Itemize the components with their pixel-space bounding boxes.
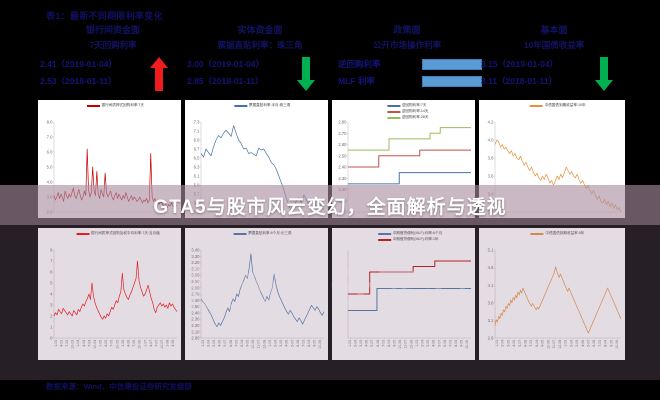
y-axis-tick: 2.70 xyxy=(191,292,200,297)
chart-legend: 票据直贴利率:6个月:长三角 xyxy=(233,231,292,236)
legend-label: 逆回购利率:14天 xyxy=(402,109,429,114)
table-column-interbank: 银行间资金面 7天回购利率 2.41（2019-01-04） 2.53（2018… xyxy=(38,24,188,96)
chart-canvas-chart-6: 3.403.303.203.103.002.902.802.702.602.50… xyxy=(185,228,328,360)
y-axis-tick: 4 xyxy=(50,292,53,297)
chart-canvas-chart-7: 1-032-043-054-065-076-087-038-049-0510-0… xyxy=(332,228,475,360)
y-axis-tick: 8.0 xyxy=(47,120,53,125)
x-axis-tick: 8-04 xyxy=(240,340,244,347)
x-axis-tick: 3-05 xyxy=(575,340,579,347)
x-axis-tick: 2-04 xyxy=(273,340,277,347)
x-axis-tick: 9-05 xyxy=(541,340,545,347)
legend-label: 中期借贷便利(MLF):利率:6个月 xyxy=(393,231,443,236)
x-axis-tick: 5-07 xyxy=(587,340,591,347)
y-axis-tick: 2.30 xyxy=(338,176,347,181)
legend-swatch xyxy=(378,239,391,241)
y-axis-tick: 4.1 xyxy=(488,283,494,288)
x-axis-tick: 4-06 xyxy=(512,340,516,347)
x-axis-tick: 2-04 xyxy=(420,340,424,347)
chart-grid: 8.07.06.05.04.03.02.0银行间质押式回购利率:7天 7.37.… xyxy=(38,100,653,360)
table-column-fundamentals: 基本面 10年国债收益率 3.15（2019-01-04） 3.11（2018-… xyxy=(479,24,629,96)
legend-label: 中债国债到期收益率:5年 xyxy=(545,231,584,236)
x-axis-tick: 1-04 xyxy=(76,340,80,347)
column-values: 2.41（2019-01-04） 2.53（2018-01-11） xyxy=(38,56,188,92)
legend-item: 中债国债到期收益率:10年 xyxy=(530,103,586,108)
y-axis-tick: 3.30 xyxy=(191,254,200,259)
y-axis-tick: 2.20 xyxy=(191,323,200,328)
table-title: 表1：最新不同期限利率变化 xyxy=(46,9,163,22)
x-axis-tick: 10-05 xyxy=(115,340,119,349)
y-axis-tick: 6.0 xyxy=(47,150,53,155)
x-axis-tick: 6-08 xyxy=(443,340,447,347)
y-axis-tick: 2 xyxy=(50,314,53,319)
x-axis-tick: 9-05 xyxy=(313,340,317,347)
y-axis-tick: 2.50 xyxy=(191,304,200,309)
y-axis-tick: 2.60 xyxy=(191,298,200,303)
chart-canvas-chart-1: 8.07.06.05.04.03.02.0 xyxy=(38,100,181,218)
y-axis-tick: 3.1 xyxy=(488,318,494,323)
chart-canvas-chart-8: 5.14.64.13.63.12.61-032-043-054-065-076-… xyxy=(479,228,625,360)
y-axis-tick: 3.2 xyxy=(488,210,494,215)
y-axis-tick: 2.0 xyxy=(47,210,53,215)
y-axis-tick: 5.3 xyxy=(194,210,200,215)
x-axis-tick: 10-06 xyxy=(318,340,322,349)
chart-canvas-chart-2: 7.37.16.96.76.56.36.15.95.75.55.3 xyxy=(185,100,328,218)
legend-label: 票据直贴利率:半月:珠三角 xyxy=(249,103,291,108)
series-line xyxy=(348,150,471,167)
y-axis-tick: 7.1 xyxy=(194,129,200,134)
x-axis-tick: 12-08 xyxy=(558,340,562,349)
x-axis-tick: 3-05 xyxy=(212,340,216,347)
legend-label: 中债国债到期收益率:10年 xyxy=(545,103,586,108)
x-axis-tick: 1-03 xyxy=(268,340,272,347)
x-axis-tick: 7-03 xyxy=(301,340,305,347)
x-axis-tick: 1-03 xyxy=(415,340,419,347)
x-axis-tick: 4-07 xyxy=(149,340,153,347)
column-subtitle: 7天回购利率 xyxy=(38,39,188,52)
x-axis-tick: 8-04 xyxy=(454,340,458,347)
x-axis-tick: 6-08 xyxy=(524,340,528,347)
x-axis-tick: 6-08 xyxy=(296,340,300,347)
y-axis-tick: 5.0 xyxy=(47,165,53,170)
y-axis-tick: 3 xyxy=(50,303,53,308)
y-axis-tick: 2.80 xyxy=(338,120,347,125)
legend-item: 中期借贷便利(MLF):利率:1年 xyxy=(378,237,443,242)
y-axis-tick: 6.3 xyxy=(194,165,200,170)
y-axis-tick: 4.2 xyxy=(488,120,494,125)
x-axis-tick: 8-04 xyxy=(604,340,608,347)
legend-label: 逆回购利率:7天 xyxy=(402,103,427,108)
x-axis-tick: 3-05 xyxy=(426,340,430,347)
legend-swatch xyxy=(378,233,391,235)
legend-item: 票据直贴利率:半月:珠三角 xyxy=(234,103,291,108)
y-axis-tick: 3.0 xyxy=(47,195,53,200)
x-axis-tick: 7-04 xyxy=(87,340,91,347)
table-column-realeconomy: 实体资金面 票据直贴利率：珠三角 3.00（2019-01-04） 2.85（2… xyxy=(185,24,335,96)
y-axis-tick: 2.40 xyxy=(191,310,200,315)
x-axis-tick: 5-07 xyxy=(290,340,294,347)
x-axis-tick: 11-07 xyxy=(404,340,408,349)
y-axis-tick: 7 xyxy=(50,259,53,264)
x-axis-tick: 10-04 xyxy=(93,340,97,349)
x-axis-tick: 10-03 xyxy=(71,340,75,349)
chart-legend: 逆回购利率:7天逆回购利率:14天逆回购利率:28天 xyxy=(387,103,429,120)
y-axis-tick: 2.10 xyxy=(191,329,200,334)
x-axis-tick: 1-03 xyxy=(564,340,568,347)
y-axis-tick: 0 xyxy=(50,336,53,341)
chart-7: 1-032-043-054-065-076-087-038-049-0510-0… xyxy=(332,228,475,360)
x-axis-tick: 7-03 xyxy=(65,340,69,347)
x-axis-tick: 9-05 xyxy=(246,340,250,347)
x-axis-tick: 2-04 xyxy=(569,340,573,347)
series-line xyxy=(348,289,471,311)
x-axis-tick: 6-08 xyxy=(376,340,380,347)
y-axis-tick: 4.0 xyxy=(488,138,494,143)
up-arrow-icon xyxy=(150,57,168,91)
legend-swatch xyxy=(387,105,400,107)
x-axis-tick: 10-06 xyxy=(465,340,469,349)
y-axis-tick: 6.7 xyxy=(194,147,200,152)
x-axis-tick: 2-04 xyxy=(206,340,210,347)
y-axis-tick: 5.9 xyxy=(194,183,200,188)
x-axis-tick: 8-04 xyxy=(535,340,539,347)
y-axis-tick: 2.50 xyxy=(338,153,347,158)
y-axis-tick: 8 xyxy=(50,248,53,253)
chart-legend: 银行间质押式回购利率:7天 xyxy=(86,103,144,108)
y-axis-tick: 2.6 xyxy=(488,336,494,341)
y-axis-tick: 3.8 xyxy=(488,156,494,161)
x-axis-tick: 4-06 xyxy=(432,340,436,347)
column-category: 实体资金面 xyxy=(185,24,335,37)
column-subtitle: 公开市场操作利率 xyxy=(332,39,482,52)
y-axis-tick: 6 xyxy=(50,270,53,275)
unchanged-bar-icon xyxy=(422,59,482,70)
x-axis-tick: 4-08 xyxy=(171,340,175,347)
x-axis-tick: 10-07 xyxy=(160,340,164,349)
y-axis-tick: 7.0 xyxy=(47,135,53,140)
series-line xyxy=(348,173,471,184)
x-axis-tick: 3-05 xyxy=(359,340,363,347)
legend-swatch xyxy=(234,105,247,107)
x-axis-tick: 1-03 xyxy=(54,340,58,347)
x-axis-tick: 3-05 xyxy=(279,340,283,347)
series-line xyxy=(54,149,177,208)
chart-canvas-chart-4: 4.24.03.83.63.43.2 xyxy=(479,100,625,218)
column-values: 3.15（2019-01-04） 3.11（2018-01-11） xyxy=(479,56,629,92)
legend-item: 中债国债到期收益率:5年 xyxy=(530,231,584,236)
chart-1: 8.07.06.05.04.03.02.0银行间质押式回购利率:7天 xyxy=(38,100,181,218)
chart-6: 3.403.303.203.103.002.902.802.702.602.50… xyxy=(185,228,328,360)
x-axis-tick: 4-03 xyxy=(59,340,63,347)
legend-item: 逆回购利率:28天 xyxy=(387,115,429,120)
legend-swatch xyxy=(387,111,400,113)
x-axis-tick: 10-06 xyxy=(398,340,402,349)
x-axis-tick: 11-07 xyxy=(257,340,261,349)
legend-label: 逆回购利率:28天 xyxy=(402,115,429,120)
x-axis-tick: 5-07 xyxy=(223,340,227,347)
x-axis-tick: 7-03 xyxy=(234,340,238,347)
y-axis-tick: 2.40 xyxy=(338,165,347,170)
x-axis-tick: 12-08 xyxy=(262,340,266,349)
legend-swatch xyxy=(387,117,400,119)
x-axis-tick: 4-06 xyxy=(365,340,369,347)
x-axis-tick: 4-06 xyxy=(581,340,585,347)
x-axis-tick: 7-03 xyxy=(448,340,452,347)
legend-item: 逆回购利率:14天 xyxy=(387,109,429,114)
x-axis-tick: 7-03 xyxy=(598,340,602,347)
y-axis-tick: 2.60 xyxy=(338,142,347,147)
rate-summary-table: 银行间资金面 7天回购利率 2.41（2019-01-04） 2.53（2018… xyxy=(38,24,653,96)
x-axis-tick: 7-03 xyxy=(529,340,533,347)
series-line xyxy=(201,126,324,212)
x-axis-tick: 7-05 xyxy=(110,340,114,347)
x-axis-tick: 11-07 xyxy=(552,340,556,349)
series-line xyxy=(348,261,471,294)
down-arrow-icon xyxy=(297,57,315,91)
y-axis-tick: 2.90 xyxy=(191,279,200,284)
y-axis-tick: 3.4 xyxy=(488,192,494,197)
x-axis-tick: 7-03 xyxy=(381,340,385,347)
y-axis-tick: 3.00 xyxy=(191,273,200,278)
x-axis-tick: 1-07 xyxy=(143,340,147,347)
chart-2: 7.37.16.96.76.56.36.15.95.75.55.3票据直贴利率:… xyxy=(185,100,328,218)
column-category: 基本面 xyxy=(479,24,629,37)
x-axis-tick: 2-04 xyxy=(353,340,357,347)
y-axis-tick: 2.00 xyxy=(191,336,200,341)
legend-swatch xyxy=(530,105,543,107)
legend-item: 票据直贴利率:6个月:长三角 xyxy=(233,231,292,236)
y-axis-tick: 3.6 xyxy=(488,174,494,179)
x-axis-tick: 5-07 xyxy=(437,340,441,347)
column-values: 3.00（2019-01-04） 2.85（2018-01-11） xyxy=(185,56,335,92)
x-axis-tick: 4-05 xyxy=(104,340,108,347)
chart-legend: 中债国债到期收益率:5年 xyxy=(530,231,584,236)
y-axis-tick: 3.6 xyxy=(488,300,494,305)
legend-swatch xyxy=(233,233,246,235)
y-axis-tick: 5 xyxy=(50,281,53,286)
chart-3: 2.802.702.602.502.402.302.202.102.00逆回购利… xyxy=(332,100,475,218)
x-axis-tick: 5-07 xyxy=(518,340,522,347)
y-axis-tick: 6.5 xyxy=(194,156,200,161)
legend-swatch xyxy=(530,233,543,235)
x-axis-tick: 4-06 xyxy=(126,340,130,347)
x-axis-tick: 9-05 xyxy=(393,340,397,347)
column-category: 银行间资金面 xyxy=(38,24,188,37)
x-axis-tick: 4-04 xyxy=(82,340,86,347)
y-axis-tick: 2.00 xyxy=(338,210,347,215)
y-axis-tick: 4.0 xyxy=(47,180,53,185)
legend-swatch xyxy=(86,105,99,107)
chart-4: 4.24.03.83.63.43.2中债国债到期收益率:10年 xyxy=(479,100,625,218)
unchanged-bar-icon xyxy=(422,76,482,87)
x-axis-tick: 10-06 xyxy=(615,340,619,349)
x-axis-tick: 2-04 xyxy=(501,340,505,347)
x-axis-tick: 6-08 xyxy=(592,340,596,347)
x-axis-tick: 10-06 xyxy=(138,340,142,349)
x-axis-tick: 6-08 xyxy=(229,340,233,347)
column-category: 政策面 xyxy=(332,24,482,37)
y-axis-tick: 4.6 xyxy=(488,265,494,270)
y-axis-tick: 3.10 xyxy=(191,266,200,271)
x-axis-tick: 8-04 xyxy=(307,340,311,347)
legend-label: 中期借贷便利(MLF):利率:1年 xyxy=(393,237,439,242)
y-axis-tick: 2.10 xyxy=(338,198,347,203)
y-axis-tick: 5.1 xyxy=(488,248,494,253)
source-footer: 数据来源：Wind，中信建投证券研究发展部 xyxy=(46,381,192,392)
x-axis-tick: 4-06 xyxy=(285,340,289,347)
y-axis-tick: 3.40 xyxy=(191,248,200,253)
y-axis-tick: 2.70 xyxy=(338,131,347,136)
column-subtitle: 票据直贴利率：珠三角 xyxy=(185,39,335,52)
series-line xyxy=(348,128,471,151)
x-axis-tick: 9-05 xyxy=(460,340,464,347)
y-axis-tick: 6.1 xyxy=(194,174,200,179)
x-axis-tick: 1-03 xyxy=(348,340,352,347)
chart-legend: 票据直贴利率:半月:珠三角 xyxy=(234,103,291,108)
x-axis-tick: 1-05 xyxy=(99,340,103,347)
column-values: 逆回购利率 MLF 利率 xyxy=(332,56,482,92)
y-axis-tick: 5.5 xyxy=(194,201,200,206)
legend-item: 逆回购利率:7天 xyxy=(387,103,429,108)
x-axis-tick: 10-06 xyxy=(251,340,255,349)
column-subtitle: 10年国债收益率 xyxy=(479,39,629,52)
x-axis-tick: 1-08 xyxy=(166,340,170,347)
y-axis-tick: 2.30 xyxy=(191,317,200,322)
x-axis-tick: 3-05 xyxy=(506,340,510,347)
legend-swatch xyxy=(76,233,89,235)
y-axis-tick: 7.3 xyxy=(194,120,200,125)
x-axis-tick: 10-06 xyxy=(546,340,550,349)
x-axis-tick: 12-08 xyxy=(409,340,413,349)
legend-label: 银行间质押式回购利率:7天 xyxy=(101,103,144,108)
series-line xyxy=(54,261,177,319)
legend-item: 银行间质押式回购利率:7天 xyxy=(86,103,144,108)
legend-item: 银行间质押式回购加权平均利率:7天:当月值 xyxy=(76,231,160,236)
chart-legend: 中债国债到期收益率:10年 xyxy=(530,103,586,108)
x-axis-tick: 7-07 xyxy=(154,340,158,347)
chart-legend: 银行间质押式回购加权平均利率:7天:当月值 xyxy=(76,231,160,236)
y-axis-tick: 5.7 xyxy=(194,192,200,197)
legend-item: 中期借贷便利(MLF):利率:6个月 xyxy=(378,231,443,236)
y-axis-tick: 2.80 xyxy=(191,285,200,290)
x-axis-tick: 8-04 xyxy=(387,340,391,347)
screenshot-root: 表1：最新不同期限利率变化 银行间资金面 7天回购利率 2.41（2019-01… xyxy=(0,0,660,400)
y-axis-tick: 2.20 xyxy=(338,187,347,192)
table-column-policy: 政策面 公开市场操作利率 逆回购利率 MLF 利率 xyxy=(332,24,482,96)
x-axis-tick: 5-07 xyxy=(370,340,374,347)
chart-5: 8765432101-034-037-0310-031-044-047-0410… xyxy=(38,228,181,360)
y-axis-tick: 3.20 xyxy=(191,260,200,265)
series-line xyxy=(495,140,621,212)
series-line xyxy=(201,254,324,327)
legend-label: 票据直贴利率:6个月:长三角 xyxy=(248,231,292,236)
x-axis-tick: 9-05 xyxy=(609,340,613,347)
x-axis-tick: 4-06 xyxy=(218,340,222,347)
chart-canvas-chart-5: 8765432101-034-037-0310-031-044-047-0410… xyxy=(38,228,181,360)
legend-label: 银行间质押式回购加权平均利率:7天:当月值 xyxy=(91,231,160,236)
chart-legend: 中期借贷便利(MLF):利率:6个月中期借贷便利(MLF):利率:1年 xyxy=(378,231,443,242)
down-arrow-icon xyxy=(595,57,613,91)
chart-8: 5.14.64.13.63.12.61-032-043-054-065-076-… xyxy=(479,228,625,360)
x-axis-tick: 1-03 xyxy=(495,340,499,347)
x-axis-tick: 7-06 xyxy=(132,340,136,347)
x-axis-tick: 1-03 xyxy=(201,340,205,347)
x-axis-tick: 1-06 xyxy=(121,340,125,347)
y-axis-tick: 1 xyxy=(50,325,53,330)
series-line xyxy=(495,267,621,333)
y-axis-tick: 6.9 xyxy=(194,138,200,143)
